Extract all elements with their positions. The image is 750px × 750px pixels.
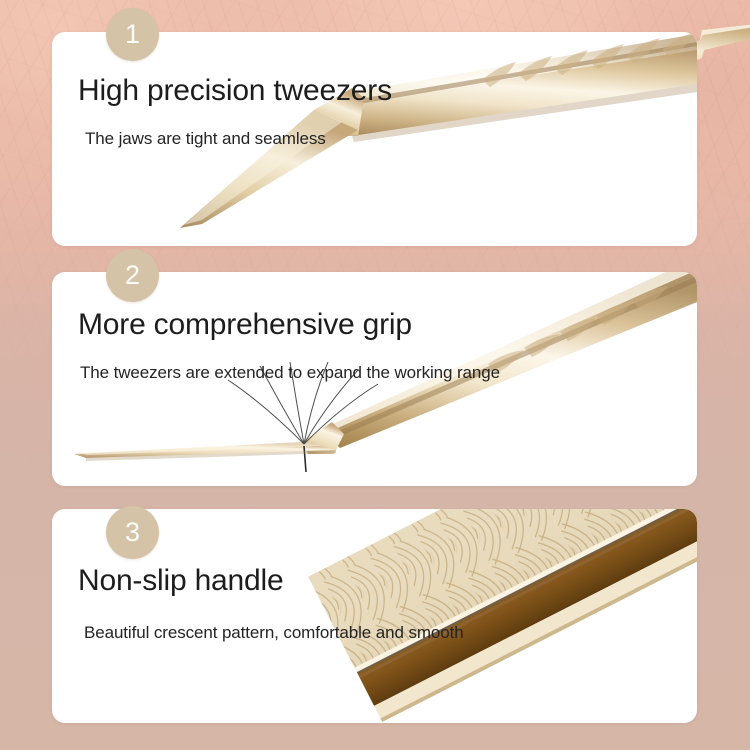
feature-1-title: High precision tweezers [78, 76, 392, 106]
feature-1-subtitle: The jaws are tight and seamless [85, 130, 392, 147]
feature-3-subtitle: Beautiful crescent pattern, comfortable … [84, 624, 464, 641]
feature-3-title: Non-slip handle [78, 566, 464, 596]
feature-badge-3: 3 [106, 506, 159, 559]
feature-card-1: High precision tweezers The jaws are tig… [52, 32, 697, 246]
feature-2-subtitle: The tweezers are extended to expand the … [80, 364, 500, 381]
feature-badge-1: 1 [106, 8, 159, 61]
feature-card-2: More comprehensive grip The tweezers are… [52, 272, 697, 486]
feature-1-text-block: High precision tweezers The jaws are tig… [78, 76, 392, 147]
infographic-page: High precision tweezers The jaws are tig… [0, 0, 750, 750]
feature-3-text-block: Non-slip handle Beautiful crescent patte… [78, 566, 464, 641]
feature-2-title: More comprehensive grip [78, 310, 500, 340]
feature-2-text-block: More comprehensive grip The tweezers are… [78, 310, 500, 381]
feature-badge-2: 2 [106, 249, 159, 302]
